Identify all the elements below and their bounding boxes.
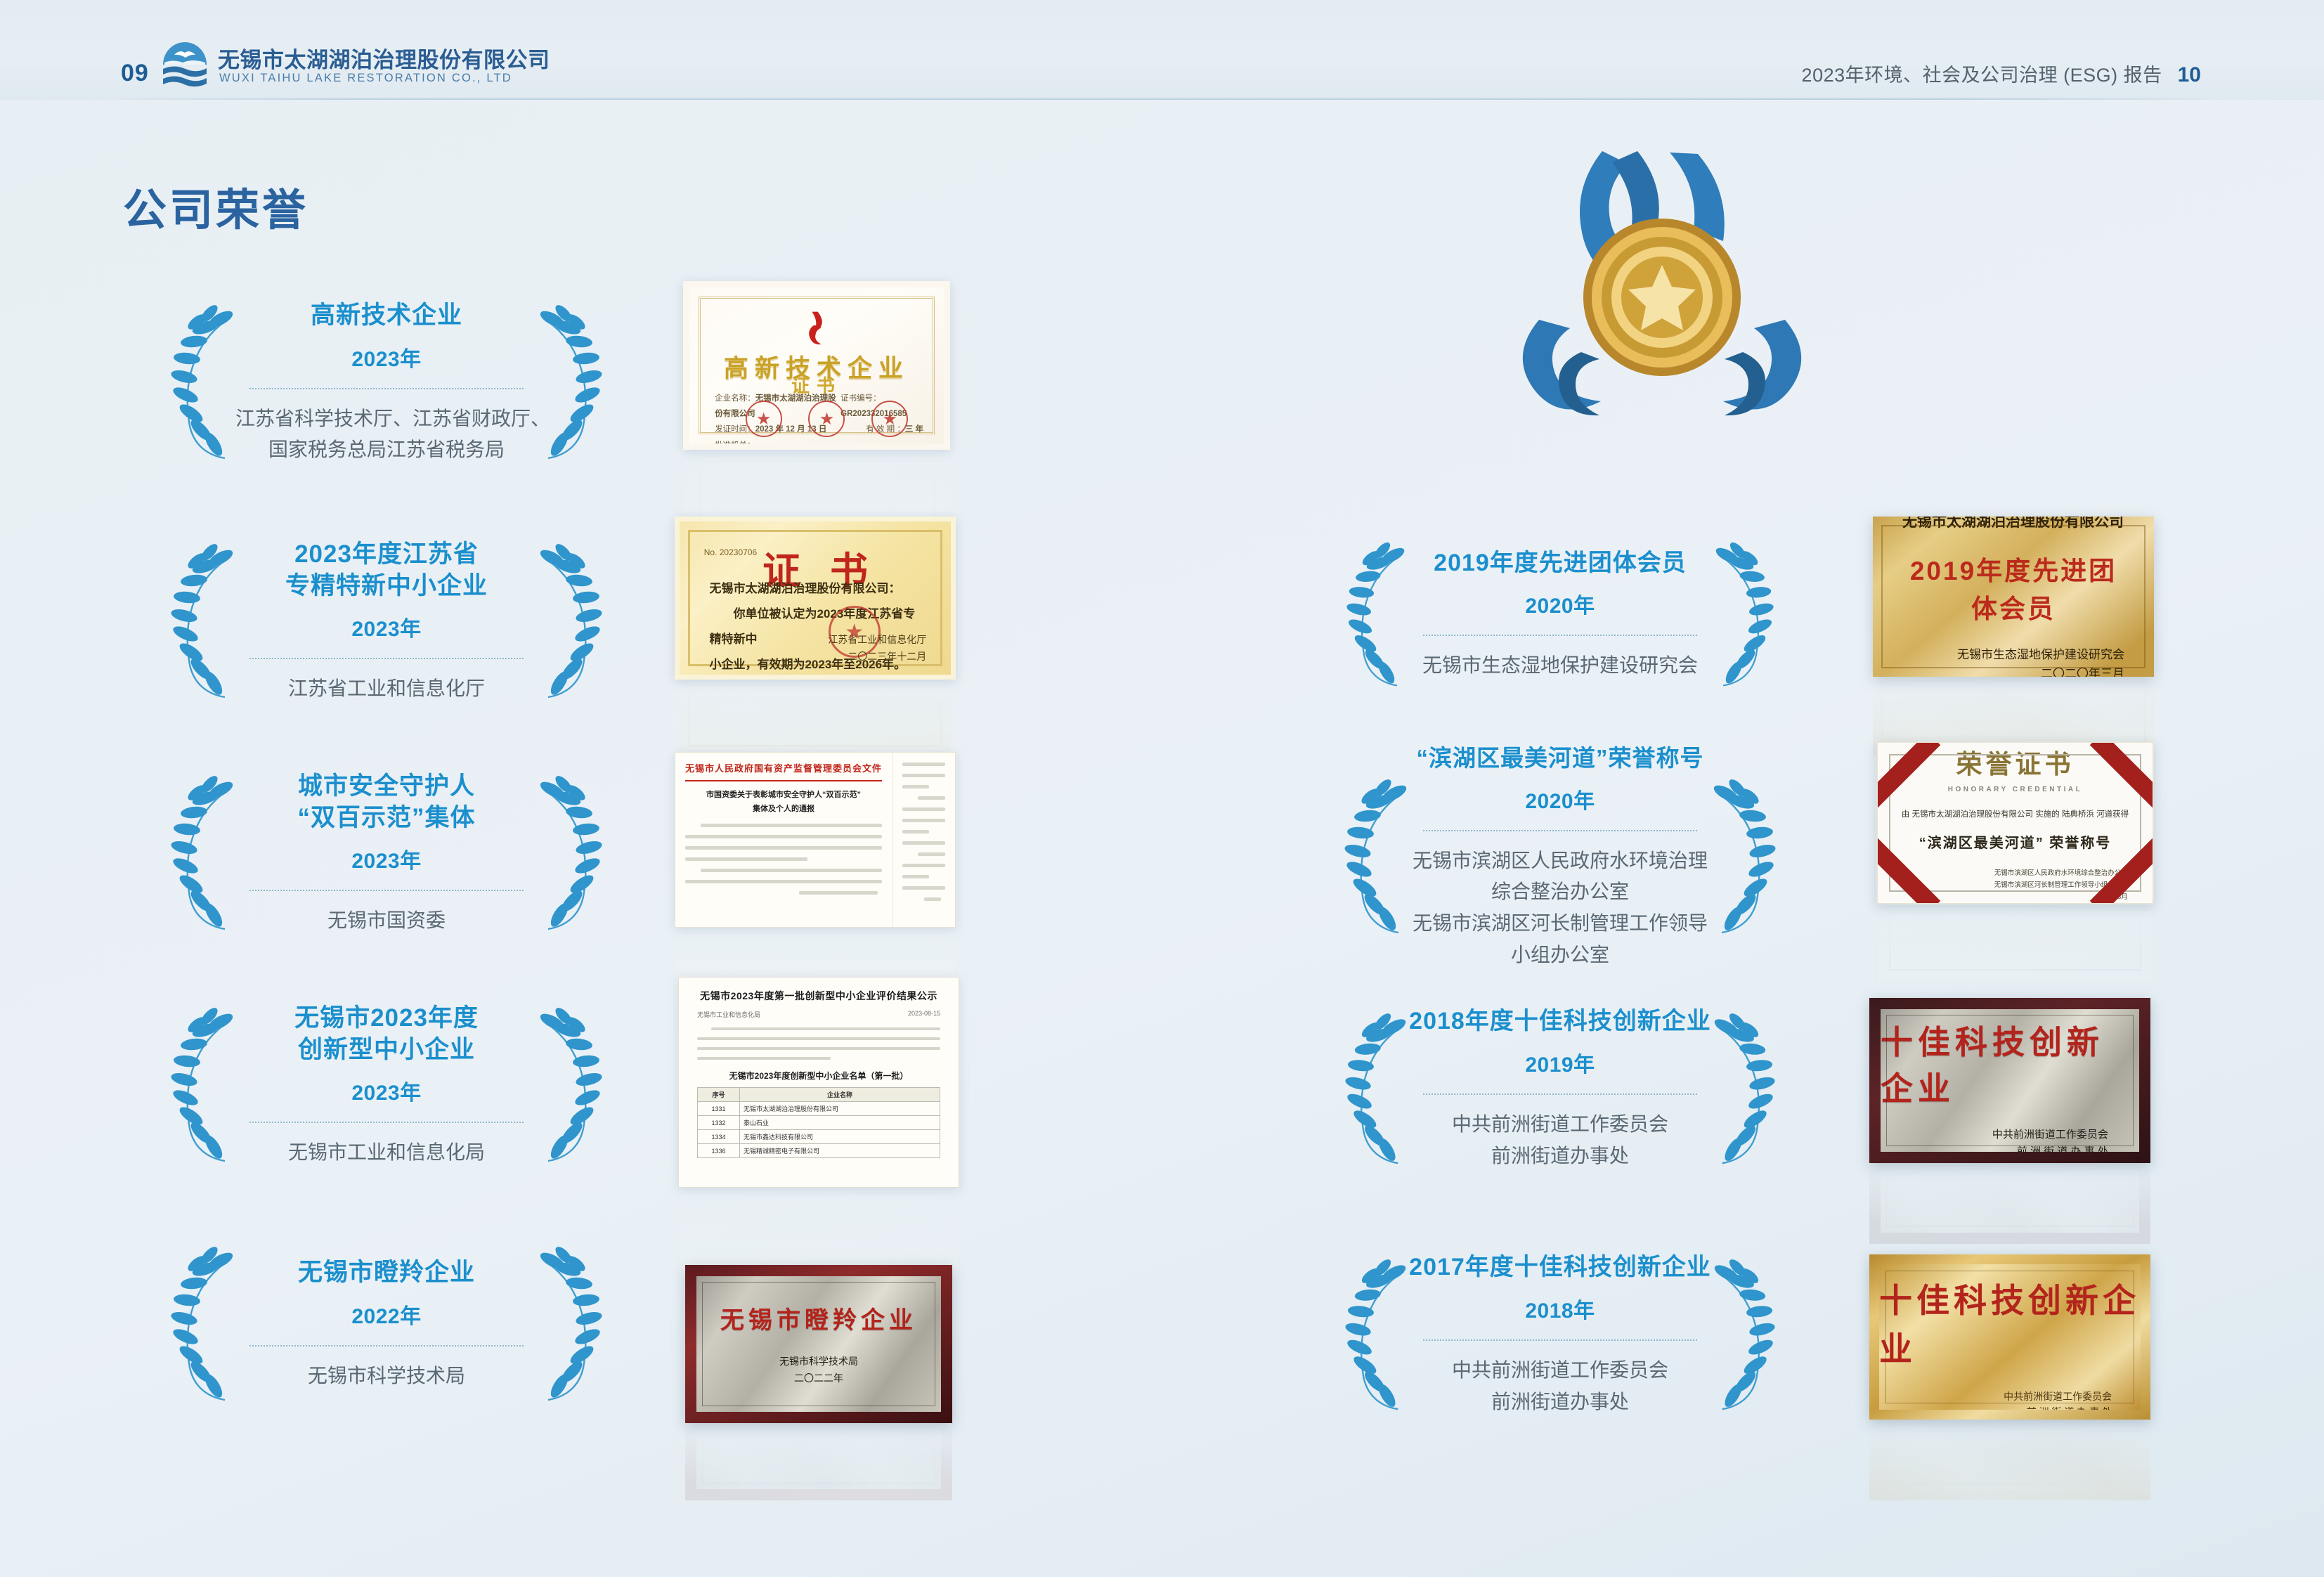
divider-dotted bbox=[249, 388, 524, 389]
laurel-wreath-icon bbox=[538, 773, 604, 935]
document-title: 无锡市2023年度第一批创新型中小企业评价结果公示 bbox=[697, 989, 940, 1003]
document-body-placeholder bbox=[697, 1027, 940, 1060]
certificate-title-en: HONORARY CREDENTIAL bbox=[1948, 786, 2083, 793]
page-number-right: 10 bbox=[2178, 63, 2201, 87]
plaque-company-name: 无锡市太湖湖泊治理股份有限公司 bbox=[1902, 517, 2124, 531]
table-row: 1334无锡市鑫达科技有限公司 bbox=[698, 1130, 940, 1144]
award-year: 2019年 bbox=[1409, 1047, 1711, 1078]
award-title: 2019年度先进团体会员 bbox=[1409, 548, 1711, 579]
divider-dotted bbox=[249, 658, 524, 659]
plaque-top-ten-2018[interactable]: 2018年度 十佳科技创新企业 中共前洲街道工作委员会 前 洲 街 道 办 事 … bbox=[1869, 998, 2150, 1163]
reflection bbox=[1869, 1163, 2150, 1244]
official-seal-icon: ★ bbox=[871, 401, 908, 437]
reflection bbox=[685, 1423, 952, 1500]
award-item: “滨湖区最美河道”荣誉称号 2020年 无锡市滨湖区人民政府水环境治理 综合整治… bbox=[1342, 745, 1778, 970]
laurel-wreath-icon bbox=[169, 1005, 235, 1167]
laurel-wreath-icon bbox=[1711, 1257, 1778, 1415]
certificate-body: 由 无锡市太湖湖泊治理股份有限公司 实施的 陆典桥浜 河道获得 bbox=[1902, 807, 2129, 823]
certificate-number: No. 20230706 bbox=[704, 547, 757, 557]
laurel-wreath-icon bbox=[1342, 1011, 1409, 1169]
page-title: 公司荣誉 bbox=[123, 174, 309, 238]
certificate-title: 荣誉证书 bbox=[1956, 743, 2075, 781]
laurel-wreath-icon bbox=[169, 302, 235, 464]
logo-text-en: WUXI TAIHU LAKE RESTORATION CO., LTD bbox=[219, 72, 512, 85]
document-heading: 市国资委关于表彰城市安全守护人“双百示范” 集体及个人的通报 bbox=[685, 788, 882, 817]
laurel-wreath-icon bbox=[1711, 1011, 1778, 1169]
logo-text-cn: 无锡市太湖湖泊治理股份有限公司 bbox=[218, 42, 550, 74]
plaque-main-text: 十佳科技创新企业 bbox=[1881, 1017, 2139, 1110]
header-right-group: 2023年环境、社会及公司治理 (ESG) 报告 10 bbox=[1802, 60, 2201, 87]
award-year: 2023年 bbox=[235, 342, 538, 372]
award-title: 2018年度十佳科技创新企业 bbox=[1409, 1006, 1711, 1037]
reflection bbox=[1869, 1420, 2150, 1500]
lake-bird-logo-icon bbox=[160, 41, 209, 90]
document-innovation-list[interactable]: 无锡市2023年度第一批创新型中小企业评价结果公示 无锡市工业和信息化局 202… bbox=[678, 977, 959, 1188]
award-year: 2022年 bbox=[235, 1299, 538, 1330]
certificate-hitech[interactable]: 高新技术企业 证书 企业名称：无锡市太湖湖泊治理股份有限公司 证书编号：GR20… bbox=[683, 281, 950, 450]
plaque-main-text: 无锡市瞪羚企业 bbox=[720, 1301, 917, 1335]
flame-emblem-icon bbox=[804, 311, 829, 351]
company-list-table: 序号 企业名称 1331无锡市太湖湖泊治理股份有限公司 1332泰山石业 133… bbox=[697, 1087, 940, 1158]
plaque-gazelle[interactable]: 无锡市瞪羚企业 无锡市科学技术局 二〇二二年 bbox=[685, 1265, 952, 1423]
plaque-footer: 无锡市科学技术局 二〇二二年 bbox=[779, 1354, 858, 1387]
ribbon-decoration bbox=[1876, 741, 1940, 819]
award-item: 无锡市2023年度 创新型中小企业 2023年 无锡市工业和信息化局 bbox=[169, 998, 604, 1174]
award-year: 2020年 bbox=[1409, 784, 1711, 815]
official-seal-icon: ★ bbox=[746, 401, 782, 437]
award-issuer: 江苏省工业和信息化厅 bbox=[235, 673, 538, 705]
laurel-wreath-icon bbox=[1342, 540, 1409, 691]
field-label-authority: 批准机关： bbox=[715, 438, 755, 450]
laurel-wreath-icon bbox=[1342, 773, 1409, 942]
award-item: 高新技术企业 2023年 江苏省科学技术厅、江苏省财政厅、 国家税务总局江苏省税… bbox=[169, 295, 604, 471]
divider-dotted bbox=[1423, 1093, 1697, 1095]
document-body-placeholder bbox=[685, 824, 882, 895]
award-item: 无锡市瞪羚企业 2022年 无锡市科学技术局 bbox=[169, 1237, 604, 1413]
page-number-left: 09 bbox=[121, 60, 149, 87]
divider-dotted bbox=[249, 1345, 524, 1346]
document-meta: 无锡市工业和信息化局 2023-08-15 bbox=[697, 1010, 940, 1019]
award-year: 2023年 bbox=[235, 1075, 538, 1106]
ribbon-decoration bbox=[2090, 741, 2154, 819]
table-row: 1332泰山石业 bbox=[698, 1116, 940, 1130]
award-item: 2018年度十佳科技创新企业 2019年 中共前洲街道工作委员会 前洲街道办事处 bbox=[1342, 1005, 1778, 1174]
plaque-year: 2018年度 bbox=[1919, 1009, 1997, 1010]
laurel-wreath-icon bbox=[1711, 773, 1778, 942]
award-title: 无锡市2023年度 创新型中小企业 bbox=[235, 1003, 538, 1066]
plaque-footer: 无锡市生态湿地保护建设研究会 二〇二〇年三月 bbox=[1902, 645, 2124, 677]
award-issuer: 无锡市滨湖区人民政府水环境治理 综合整治办公室 无锡市滨湖区河长制管理工作领导 … bbox=[1409, 845, 1711, 971]
ribbon-decoration bbox=[1876, 826, 1940, 904]
certificate-signature: 江苏省工业和信息化厅 二〇二三年十二月 bbox=[828, 632, 926, 666]
certificate-main-text: “滨湖区最美河道” 荣誉称号 bbox=[1919, 831, 2112, 852]
laurel-wreath-icon bbox=[169, 541, 235, 703]
doc-column-left: 无锡市人民政府国有资产监督管理委员会文件 市国资委关于表彰城市安全守护人“双百示… bbox=[675, 753, 892, 927]
award-year: 2020年 bbox=[1409, 588, 1711, 619]
document-body-placeholder bbox=[902, 762, 945, 901]
award-issuer: 无锡市国资委 bbox=[235, 905, 538, 937]
laurel-wreath-icon bbox=[1711, 540, 1778, 691]
divider-dotted bbox=[1423, 830, 1697, 831]
certificate-honor-river[interactable]: 荣誉证书 HONORARY CREDENTIAL 由 无锡市太湖湖泊治理股份有限… bbox=[1876, 741, 2154, 904]
table-header-cell: 序号 bbox=[698, 1088, 740, 1102]
award-item: 2017年度十佳科技创新企业 2018年 中共前洲街道工作委员会 前洲街道办事处 bbox=[1342, 1251, 1778, 1420]
award-issuer: 无锡市生态湿地保护建设研究会 bbox=[1409, 650, 1711, 682]
certificate-sme[interactable]: 证书 No. 20230706 无锡市太湖湖泊治理股份有限公司： 你单位被认定为… bbox=[675, 517, 956, 680]
document-subtitle: 无锡市2023年度创新型中小企业名单（第一批） bbox=[697, 1070, 940, 1082]
award-issuer: 中共前洲街道工作委员会 前洲街道办事处 bbox=[1409, 1355, 1711, 1418]
document-rule bbox=[685, 780, 882, 781]
reflection bbox=[675, 680, 956, 760]
plaque-main-text: 2019年度先进团体会员 bbox=[1902, 550, 2124, 625]
award-year: 2018年 bbox=[1409, 1293, 1711, 1324]
award-item: 2023年度江苏省 专精特新中小企业 2023年 江苏省工业和信息化厅 bbox=[169, 534, 604, 710]
header-divider bbox=[123, 98, 2203, 100]
laurel-wreath-icon bbox=[538, 302, 604, 464]
divider-dotted bbox=[249, 1122, 524, 1123]
plaque-top-ten-2017[interactable]: 2017年度 十佳科技创新企业 中共前洲街道工作委员会 前 洲 街 道 办 事 … bbox=[1869, 1254, 2150, 1420]
page-header: 09 无锡市太湖湖泊治理股份有限公司 WUXI TAIHU LAKE RESTO… bbox=[0, 0, 2324, 100]
award-issuer: 无锡市工业和信息化局 bbox=[235, 1137, 538, 1169]
award-year: 2023年 bbox=[235, 611, 538, 642]
divider-dotted bbox=[1423, 1339, 1697, 1341]
table-header-cell: 企业名称 bbox=[740, 1088, 940, 1102]
plaque-main-text: 十佳科技创新企业 bbox=[1879, 1273, 2141, 1370]
laurel-wreath-icon bbox=[1342, 1257, 1409, 1415]
plaque-member-2019[interactable]: 无锡市太湖湖泊治理股份有限公司 2019年度先进团体会员 无锡市生态湿地保护建设… bbox=[1873, 517, 2154, 677]
award-issuer: 无锡市科学技术局 bbox=[235, 1361, 538, 1392]
plaque-metal-plate: 2018年度 十佳科技创新企业 中共前洲街道工作委员会 前 洲 街 道 办 事 … bbox=[1881, 1009, 2139, 1152]
laurel-wreath-icon bbox=[169, 1244, 235, 1406]
official-seal-icon: ★ bbox=[808, 401, 845, 437]
award-title: 2017年度十佳科技创新企业 bbox=[1409, 1252, 1711, 1283]
document-safety-notice[interactable]: 无锡市人民政府国有资产监督管理委员会文件 市国资委关于表彰城市安全守护人“双百示… bbox=[675, 752, 956, 928]
gold-medal-ribbon-icon bbox=[1497, 144, 1827, 453]
award-issuer: 中共前洲街道工作委员会 前洲街道办事处 bbox=[1409, 1109, 1711, 1172]
laurel-wreath-icon bbox=[538, 1005, 604, 1167]
plaque-footer: 中共前洲街道工作委员会 前 洲 街 道 办 事 处 2019 年 2 月 bbox=[1992, 1127, 2108, 1152]
award-item: 城市安全守护人 “双百示范”集体 2023年 无锡市国资委 bbox=[169, 766, 604, 942]
award-title: 无锡市瞪羚企业 bbox=[235, 1257, 538, 1289]
award-issuer: 江苏省科学技术厅、江苏省财政厅、 国家税务总局江苏省税务局 bbox=[235, 403, 538, 467]
award-title: 城市安全守护人 “双百示范”集体 bbox=[235, 771, 538, 834]
laurel-wreath-icon bbox=[538, 1244, 604, 1406]
laurel-wreath-icon bbox=[169, 773, 235, 935]
doc-column-right bbox=[892, 753, 955, 927]
award-year: 2023年 bbox=[235, 843, 538, 874]
divider-dotted bbox=[249, 890, 524, 891]
laurel-wreath-icon bbox=[538, 541, 604, 703]
award-title: 高新技术企业 bbox=[235, 300, 538, 332]
certificate-seals: ★ ★ ★ bbox=[746, 401, 909, 437]
ribbon-decoration bbox=[2090, 826, 2154, 904]
plaque-metal-plate: 无锡市瞪羚企业 无锡市科学技术局 二〇二二年 bbox=[696, 1276, 941, 1412]
company-logo: 无锡市太湖湖泊治理股份有限公司 WUXI TAIHU LAKE RESTORAT… bbox=[160, 41, 554, 96]
plaque-metal-plate: 2017年度 十佳科技创新企业 中共前洲街道工作委员会 前 洲 街 道 办 事 … bbox=[1879, 1264, 2141, 1410]
award-item: 2019年度先进团体会员 2020年 无锡市生态湿地保护建设研究会 bbox=[1342, 534, 1778, 696]
report-title: 2023年环境、社会及公司治理 (ESG) 报告 bbox=[1802, 60, 2162, 87]
award-title: “滨湖区最美河道”荣誉称号 bbox=[1409, 744, 1711, 773]
award-title: 2023年度江苏省 专精特新中小企业 bbox=[235, 539, 538, 602]
table-row: 1331无锡市太湖湖泊治理股份有限公司 bbox=[698, 1102, 940, 1116]
document-red-header: 无锡市人民政府国有资产监督管理委员会文件 bbox=[685, 761, 882, 774]
reflection bbox=[1876, 904, 2154, 983]
divider-dotted bbox=[1423, 635, 1697, 636]
plaque-footer: 中共前洲街道工作委员会 前 洲 街 道 办 事 处 2018 年 2 月 bbox=[2004, 1389, 2112, 1410]
table-row: 1336无锡精诚精密电子有限公司 bbox=[698, 1144, 940, 1158]
